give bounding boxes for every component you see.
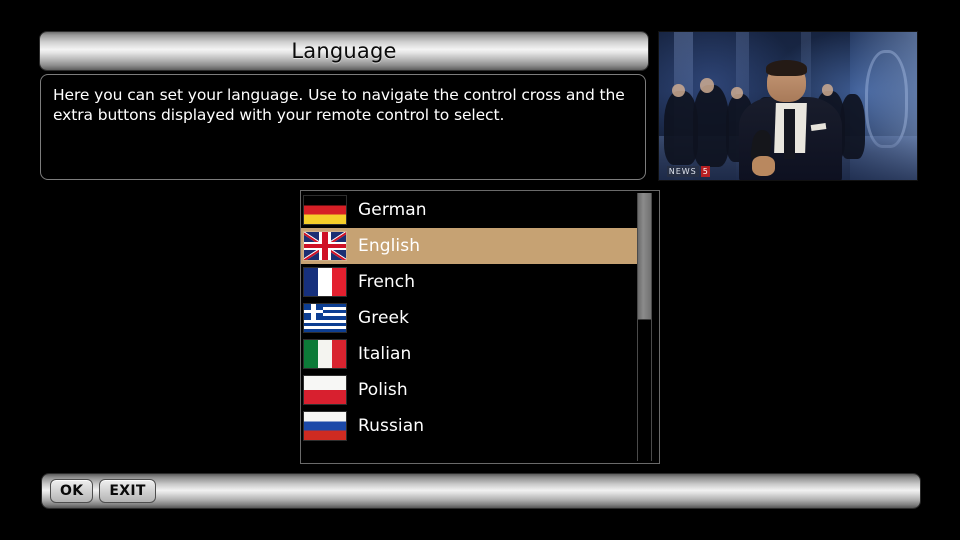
description-panel: Here you can set your language. Use to n… bbox=[40, 74, 646, 180]
language-label: Greek bbox=[358, 308, 409, 328]
flag-icon-de bbox=[304, 196, 346, 224]
page-title: Language bbox=[291, 39, 396, 63]
exit-button[interactable]: EXIT bbox=[99, 479, 155, 503]
crowd-head bbox=[822, 84, 834, 96]
language-list-item-german[interactable]: German bbox=[301, 192, 643, 228]
language-list-panel[interactable]: GermanEnglishFrenchGreekItalianPolishRus… bbox=[300, 190, 660, 464]
language-label: German bbox=[358, 200, 427, 220]
crowd-head bbox=[672, 84, 685, 97]
list-scrollbar-thumb[interactable] bbox=[638, 193, 651, 320]
language-list-item-polish[interactable]: Polish bbox=[301, 372, 643, 408]
language-label: Italian bbox=[358, 344, 411, 364]
reporter-tie bbox=[784, 109, 795, 159]
language-label: French bbox=[358, 272, 415, 292]
language-list-item-russian[interactable]: Russian bbox=[301, 408, 643, 444]
video-preview[interactable]: NEWS 5 bbox=[659, 32, 917, 180]
language-list-item-italian[interactable]: Italian bbox=[301, 336, 643, 372]
language-label: Polish bbox=[358, 380, 408, 400]
ok-button[interactable]: OK bbox=[50, 479, 93, 503]
flag-icon-pl bbox=[304, 376, 346, 404]
language-label: Russian bbox=[358, 416, 424, 436]
language-list[interactable]: GermanEnglishFrenchGreekItalianPolishRus… bbox=[301, 192, 643, 444]
language-list-item-french[interactable]: French bbox=[301, 264, 643, 300]
flag-icon-fr bbox=[304, 268, 346, 296]
channel-bug-number: 5 bbox=[701, 166, 710, 177]
flag-icon-gb bbox=[304, 232, 346, 260]
channel-logo-bug: NEWS 5 bbox=[667, 166, 710, 177]
reporter-hand bbox=[752, 156, 775, 175]
language-list-item-english[interactable]: English bbox=[301, 228, 643, 264]
language-label: English bbox=[358, 236, 420, 256]
crowd-head bbox=[700, 78, 714, 93]
flag-icon-ru bbox=[304, 412, 346, 440]
osd-screen: Language Here you can set your language.… bbox=[0, 0, 960, 540]
channel-bug-text: NEWS bbox=[667, 166, 699, 177]
osd-title-bar: Language bbox=[40, 32, 648, 70]
language-list-item-greek[interactable]: Greek bbox=[301, 300, 643, 336]
softkey-bar: OK EXIT bbox=[42, 474, 920, 508]
crowd-figure bbox=[840, 94, 866, 159]
flag-icon-it bbox=[304, 340, 346, 368]
flag-icon-gr bbox=[304, 304, 346, 332]
crowd-figure bbox=[693, 85, 729, 166]
crowd-head bbox=[731, 87, 743, 99]
reporter-hair bbox=[766, 60, 807, 76]
description-text: Here you can set your language. Use to n… bbox=[53, 85, 633, 125]
list-scrollbar-track[interactable] bbox=[637, 193, 652, 461]
